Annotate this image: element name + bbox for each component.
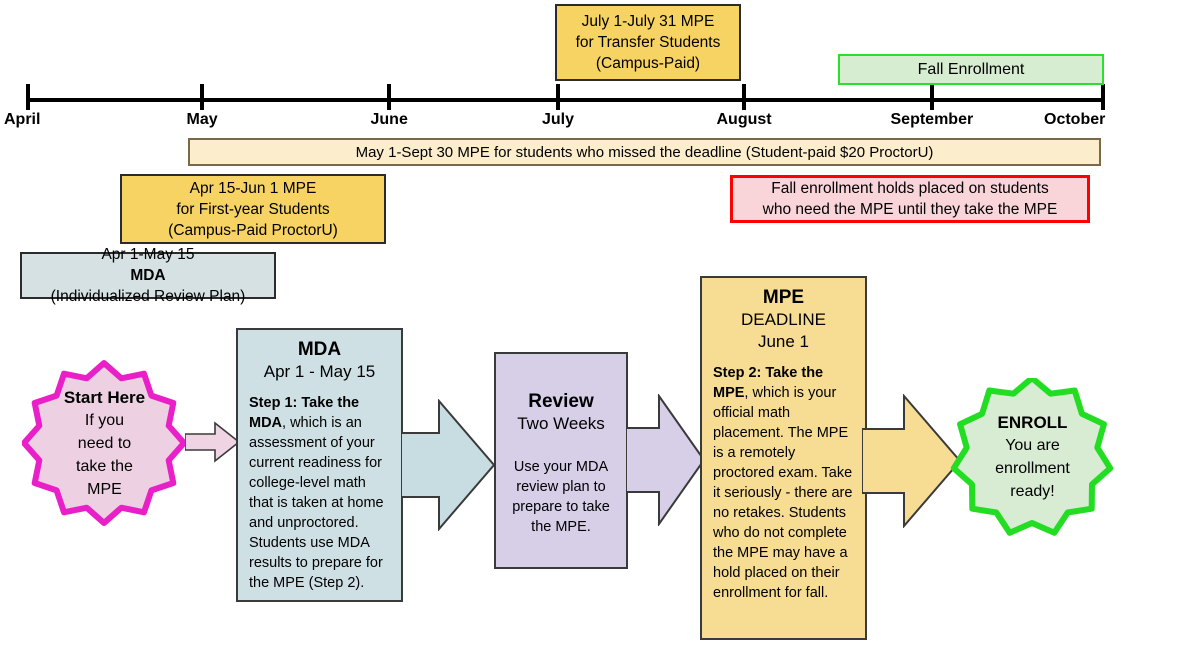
timeline-tick-july [556,84,560,110]
banner-transfer-line3: (Campus-Paid) [596,53,700,74]
review-sub: Two Weeks [507,413,615,435]
mda-sub: Apr 1 - May 15 [249,361,390,383]
timeline-label-september: September [891,111,974,129]
start-here-line1: If you [64,409,145,432]
banner-first-year-line3: (Campus-Paid ProctorU) [168,220,338,241]
banner-mda-note-line1: Apr 1-May 15 MDA [101,244,194,286]
banner-first-year-line1: Apr 15-Jun 1 MPE [190,178,317,199]
timeline-tick-september [930,84,934,110]
arrow-start-to-mda [185,420,240,464]
timeline-tick-april [26,84,30,110]
banner-first-year-line2: for First-year Students [176,199,329,220]
banner-fall-enrollment: Fall Enrollment [838,54,1104,85]
start-here-title: Start Here [64,386,145,409]
enroll-title: ENROLL [995,411,1070,434]
timeline-axis [26,98,1103,102]
banner-transfer-line2: for Transfer Students [576,32,721,53]
banner-missed-deadline-label: May 1-Sept 30 MPE for students who misse… [356,142,934,163]
timeline-label-july: July [542,111,574,129]
start-here-line4: MPE [64,478,145,501]
banner-mda-note-line2: (Individualized Review Plan) [51,286,246,307]
timeline-tick-june [387,84,391,110]
banner-holds-line1: Fall enrollment holds placed on students [771,178,1048,199]
enroll-line3: ready! [995,480,1070,503]
timeline-label-april: April [4,111,40,129]
enroll-burst: ENROLL You are enrollment ready! [950,378,1115,536]
mda-body: Step 1: Take the MDA, which is an assess… [249,393,390,593]
banner-first-year-mpe: Apr 15-Jun 1 MPE for First-year Students… [120,174,386,244]
banner-transfer-mpe: July 1-July 31 MPE for Transfer Students… [555,4,741,81]
start-here-text: Start Here If you need to take the MPE [64,386,145,501]
banner-fall-enrollment-label: Fall Enrollment [918,59,1025,80]
mpe-body: Step 2: Take the MPE, which is your offi… [713,363,854,603]
banner-missed-deadline: May 1-Sept 30 MPE for students who misse… [188,138,1101,166]
timeline-label-may: May [187,111,218,129]
enroll-line2: enrollment [995,457,1070,480]
banner-holds-line2: who need the MPE until they take the MPE [763,199,1058,220]
timeline-label-june: June [371,111,408,129]
timeline-tick-august [742,84,746,110]
timeline-label-august: August [717,111,772,129]
flow-box-review: Review Two Weeks Use your MDA review pla… [494,352,628,569]
review-body: Use your MDA review plan to prepare to t… [507,457,615,537]
mda-head: MDA [249,338,390,361]
banner-mda-note: Apr 1-May 15 MDA (Individualized Review … [20,252,276,299]
flow-box-mda: MDA Apr 1 - May 15 Step 1: Take the MDA,… [236,328,403,602]
mpe-sub-date: June 1 [713,331,854,353]
enroll-text: ENROLL You are enrollment ready! [995,411,1070,503]
arrow-mda-to-review [401,399,496,531]
banner-transfer-line1: July 1-July 31 MPE [582,11,715,32]
enroll-line1: You are [995,434,1070,457]
mpe-body-rest: , which is your official math placement.… [713,385,852,601]
start-here-line2: need to [64,432,145,455]
start-here-burst: Start Here If you need to take the MPE [22,358,187,528]
timeline-label-october: October [1044,111,1105,129]
arrow-review-to-mpe [626,394,706,526]
arrow-mpe-to-enroll [862,394,962,528]
banner-enrollment-holds: Fall enrollment holds placed on students… [730,175,1090,223]
timeline-tick-october [1101,84,1105,110]
banner-mda-note-acronym: MDA [130,267,165,284]
start-here-line3: take the [64,455,145,478]
mpe-sub-deadline: DEADLINE [713,309,854,331]
mda-body-rest: , which is an assessment of your current… [249,415,384,591]
diagram-canvas: AprilMayJuneJulyAugustSeptemberOctober J… [0,0,1200,663]
review-head: Review [507,390,615,413]
timeline-tick-may [200,84,204,110]
mpe-head: MPE [713,286,854,309]
banner-mda-note-dates: Apr 1-May 15 [101,244,194,265]
flow-box-mpe: MPE DEADLINE June 1 Step 2: Take the MPE… [700,276,867,640]
